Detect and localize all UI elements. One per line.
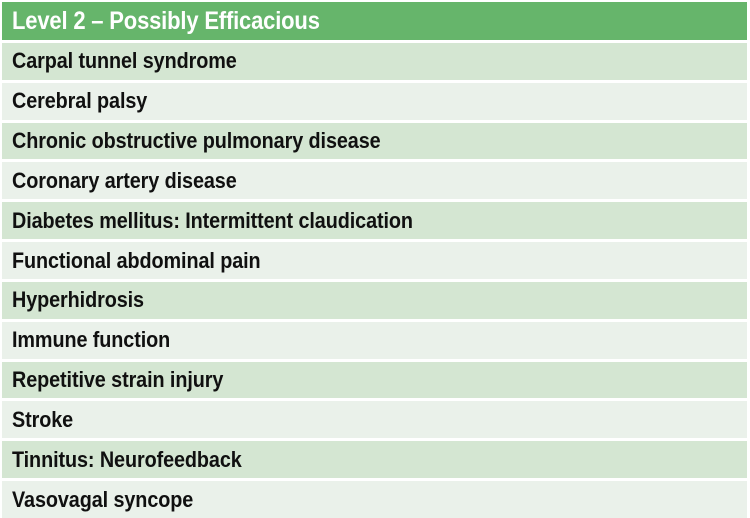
table-row: Diabetes mellitus: Intermittent claudica… bbox=[2, 202, 747, 239]
table-row-label: Vasovagal syncope bbox=[12, 489, 193, 511]
table-row-label: Repetitive strain injury bbox=[12, 369, 223, 391]
table-row: Carpal tunnel syndrome bbox=[2, 43, 747, 80]
table-row-label: Tinnitus: Neurofeedback bbox=[12, 449, 242, 471]
table-row-label: Chronic obstructive pulmonary disease bbox=[12, 130, 381, 152]
table-header-title: Level 2 – Possibly Efficacious bbox=[12, 9, 320, 34]
table-row-label: Stroke bbox=[12, 409, 73, 431]
table-row: Coronary artery disease bbox=[2, 162, 747, 199]
table-body: Carpal tunnel syndrome Cerebral palsy Ch… bbox=[2, 40, 747, 518]
table-row: Stroke bbox=[2, 401, 747, 438]
table-row: Tinnitus: Neurofeedback bbox=[2, 441, 747, 478]
efficacy-level-table: Level 2 – Possibly Efficacious Carpal tu… bbox=[0, 0, 750, 518]
table-row: Immune function bbox=[2, 322, 747, 359]
table-row: Hyperhidrosis bbox=[2, 282, 747, 319]
table-row-label: Functional abdominal pain bbox=[12, 250, 261, 272]
table-row-label: Immune function bbox=[12, 329, 170, 351]
table-header: Level 2 – Possibly Efficacious bbox=[2, 2, 747, 40]
table-row: Chronic obstructive pulmonary disease bbox=[2, 123, 747, 160]
table-row: Repetitive strain injury bbox=[2, 362, 747, 399]
table-row: Cerebral palsy bbox=[2, 83, 747, 120]
table-row-label: Diabetes mellitus: Intermittent claudica… bbox=[12, 210, 413, 232]
table-row: Vasovagal syncope bbox=[2, 481, 747, 518]
table-row-label: Coronary artery disease bbox=[12, 170, 237, 192]
table-row-label: Hyperhidrosis bbox=[12, 289, 144, 311]
table-row: Functional abdominal pain bbox=[2, 242, 747, 279]
table-row-label: Carpal tunnel syndrome bbox=[12, 50, 237, 72]
table-row-label: Cerebral palsy bbox=[12, 90, 147, 112]
